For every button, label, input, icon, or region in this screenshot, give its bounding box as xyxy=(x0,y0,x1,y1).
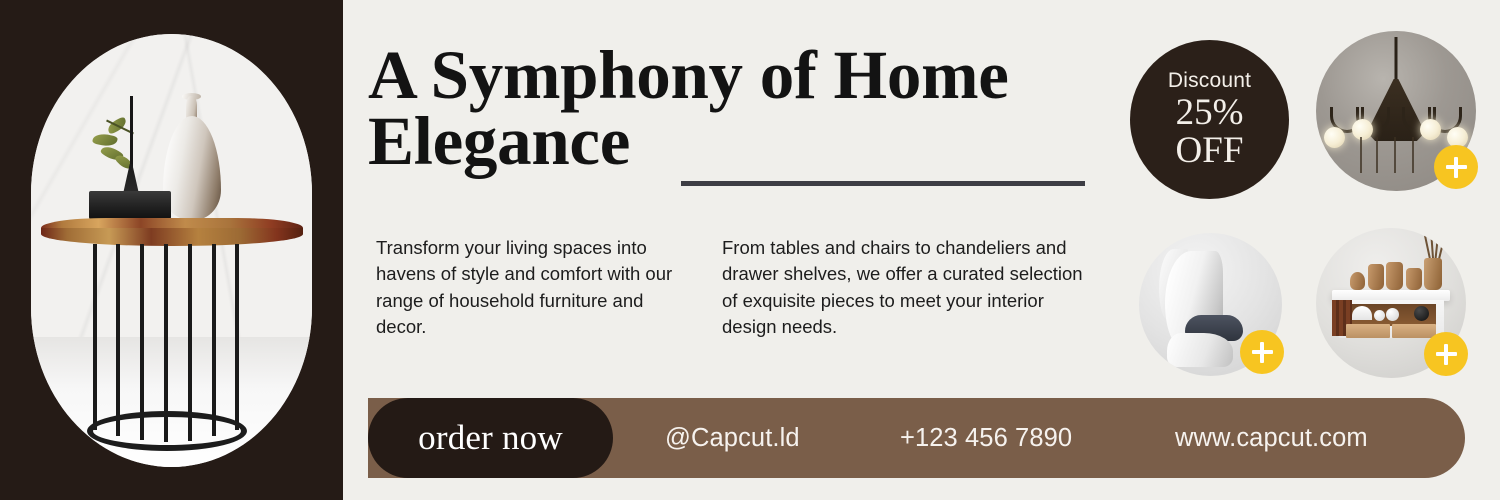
phone-number[interactable]: +123 456 7890 xyxy=(900,398,1072,478)
discount-off-text: OFF xyxy=(1176,132,1244,170)
decor-pot xyxy=(1368,264,1384,290)
decor-reed xyxy=(1430,228,1434,260)
table-base-ring xyxy=(87,411,247,451)
decor-pot xyxy=(1406,268,1422,290)
black-display-block xyxy=(89,191,171,219)
decor-sphere xyxy=(1374,310,1385,321)
decor-pot xyxy=(1350,272,1365,290)
body-copy-column-2: From tables and chairs to chandeliers an… xyxy=(722,235,1094,340)
decor-dome xyxy=(1352,306,1372,320)
headline-line-1: A Symphony of Home xyxy=(368,37,1009,113)
add-product-wall-shelf-button[interactable] xyxy=(1424,332,1468,376)
shelf-drawer xyxy=(1392,324,1436,338)
chandelier-crystal-strand xyxy=(1360,137,1362,173)
chandelier-crystal-strand xyxy=(1412,137,1414,173)
hero-panel xyxy=(0,0,343,500)
discount-label: Discount xyxy=(1168,70,1251,91)
chandelier-crystal-strand xyxy=(1376,137,1378,173)
table-leg xyxy=(235,244,239,430)
chandelier-bulb xyxy=(1420,119,1441,140)
add-product-chandelier-button[interactable] xyxy=(1434,145,1478,189)
hero-product-photo xyxy=(31,34,312,467)
order-now-button[interactable]: order now xyxy=(368,398,613,478)
decor-reed xyxy=(1438,234,1446,260)
table-leg xyxy=(140,244,144,440)
table-leg xyxy=(212,244,216,436)
social-handle[interactable]: @Capcut.ld xyxy=(665,398,800,478)
decor-sphere xyxy=(1386,308,1399,321)
decor-sphere xyxy=(1414,306,1429,321)
page-title: A Symphony of Home Elegance xyxy=(368,42,1098,174)
discount-badge: Discount 25% OFF xyxy=(1130,40,1289,199)
chair-base xyxy=(1167,333,1233,367)
product-thumb-armchair[interactable] xyxy=(1139,233,1282,376)
sculpture-rod xyxy=(130,96,133,168)
decor-pot xyxy=(1386,262,1403,290)
table-leg xyxy=(116,244,120,436)
promo-banner: A Symphony of Home Elegance Transform yo… xyxy=(0,0,1500,500)
website-url[interactable]: www.capcut.com xyxy=(1175,398,1368,478)
plus-icon xyxy=(1454,157,1458,178)
discount-percent: 25% xyxy=(1176,94,1244,132)
shelf-drawer xyxy=(1346,324,1390,338)
table-leg xyxy=(93,244,97,430)
product-thumb-wall-shelf[interactable] xyxy=(1316,228,1466,378)
body-copy-column-1: Transform your living spaces into havens… xyxy=(376,235,686,340)
plus-icon xyxy=(1260,342,1264,363)
decor-tall-vase xyxy=(1424,258,1442,290)
headline-divider xyxy=(681,181,1085,186)
chandelier-rod xyxy=(1395,37,1398,83)
headline-line-2: Elegance xyxy=(368,108,1098,174)
chandelier-crystal-strand xyxy=(1394,137,1396,173)
plus-icon xyxy=(1444,344,1448,365)
chandelier-bulb xyxy=(1352,119,1373,140)
add-product-armchair-button[interactable] xyxy=(1240,330,1284,374)
product-thumb-chandelier[interactable] xyxy=(1316,31,1476,191)
chandelier-bulb xyxy=(1324,127,1345,148)
